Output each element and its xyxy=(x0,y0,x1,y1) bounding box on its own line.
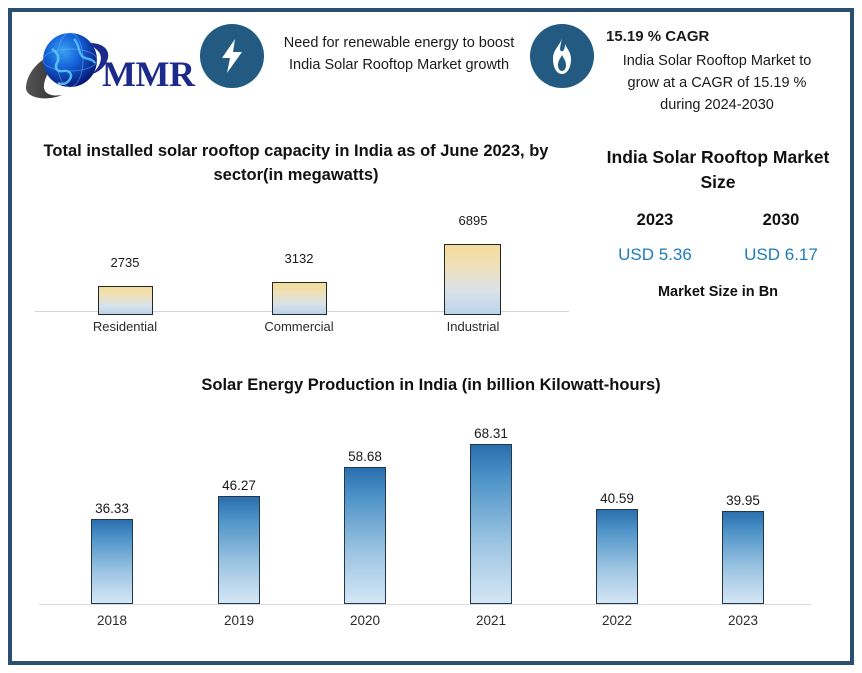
bar-2019[interactable] xyxy=(218,496,260,604)
bar-category-2018: 2018 xyxy=(97,613,127,628)
market-size-value-base: USD 5.36 xyxy=(600,245,710,265)
bar-value-2021: 68.31 xyxy=(474,426,508,441)
bar-2023[interactable] xyxy=(722,511,764,604)
market-size-footnote: Market Size in Bn xyxy=(592,284,844,300)
bar-category-2023: 2023 xyxy=(728,613,758,628)
feature-cagr: 15.19 % CAGR India Solar Rooftop Market … xyxy=(530,14,842,116)
bar-industrial[interactable] xyxy=(444,244,501,315)
bar-2020[interactable] xyxy=(344,467,386,604)
bar-2021[interactable] xyxy=(470,444,512,604)
production-chart-axis xyxy=(39,604,811,605)
production-chart-title: Solar Energy Production in India (in bil… xyxy=(60,376,802,395)
bar-value-2019: 46.27 xyxy=(222,478,256,493)
bar-value-2020: 58.68 xyxy=(348,449,382,464)
market-size-panel: India Solar Rooftop Market Size 2023 203… xyxy=(592,145,844,300)
bar-category-2020: 2020 xyxy=(350,613,380,628)
bar-value-2022: 40.59 xyxy=(600,491,634,506)
brand-logo-text: MMR xyxy=(102,53,194,95)
bar-value-2018: 36.33 xyxy=(95,501,129,516)
bar-value-industrial: 6895 xyxy=(459,213,488,228)
capacity-chart-title: Total installed solar rooftop capacity i… xyxy=(36,140,556,188)
header: MMR Need for renewable energy to boost I… xyxy=(14,14,848,124)
feature-renewable-energy: Need for renewable energy to boost India… xyxy=(200,14,530,88)
flame-icon xyxy=(530,24,594,88)
bar-2018[interactable] xyxy=(91,519,133,604)
market-size-title: India Solar Rooftop Market Size xyxy=(592,145,844,195)
feature-renewable-energy-text: Need for renewable energy to boost India… xyxy=(276,14,522,76)
market-size-value-forecast: USD 6.17 xyxy=(726,245,836,265)
market-size-years: 2023 2030 xyxy=(592,211,844,230)
bar-value-2023: 39.95 xyxy=(726,493,760,508)
bar-category-industrial: Industrial xyxy=(447,319,500,334)
market-size-year-base: 2023 xyxy=(600,211,710,230)
market-size-values: USD 5.36 USD 6.17 xyxy=(592,245,844,265)
brand-logo[interactable]: MMR xyxy=(14,14,200,118)
bar-category-2022: 2022 xyxy=(602,613,632,628)
capacity-chart-plot: 2735 Residential 3132 Commercial 6895 In… xyxy=(32,205,572,315)
lightning-bolt-icon xyxy=(200,24,264,88)
bar-category-commercial: Commercial xyxy=(264,319,333,334)
bar-category-2019: 2019 xyxy=(224,613,254,628)
feature-cagr-text: India Solar Rooftop Market to grow at a … xyxy=(623,53,812,113)
infographic-page: MMR Need for renewable energy to boost I… xyxy=(0,0,862,673)
bar-commercial[interactable] xyxy=(272,282,327,315)
bar-category-residential: Residential xyxy=(93,319,157,334)
market-size-year-forecast: 2030 xyxy=(726,211,836,230)
bar-category-2021: 2021 xyxy=(476,613,506,628)
capacity-by-sector-chart: 2735 Residential 3132 Commercial 6895 In… xyxy=(32,205,572,345)
production-chart-plot: 36.33 2018 46.27 2019 58.68 2020 68.31 2… xyxy=(36,415,816,605)
bar-value-residential: 2735 xyxy=(111,255,140,270)
solar-energy-production-chart: 36.33 2018 46.27 2019 58.68 2020 68.31 2… xyxy=(36,415,816,640)
bar-value-commercial: 3132 xyxy=(285,251,314,266)
bar-2022[interactable] xyxy=(596,509,638,604)
bar-residential[interactable] xyxy=(98,286,153,315)
cagr-headline: 15.19 % CAGR xyxy=(606,26,828,49)
feature-cagr-body: 15.19 % CAGR India Solar Rooftop Market … xyxy=(606,14,828,116)
